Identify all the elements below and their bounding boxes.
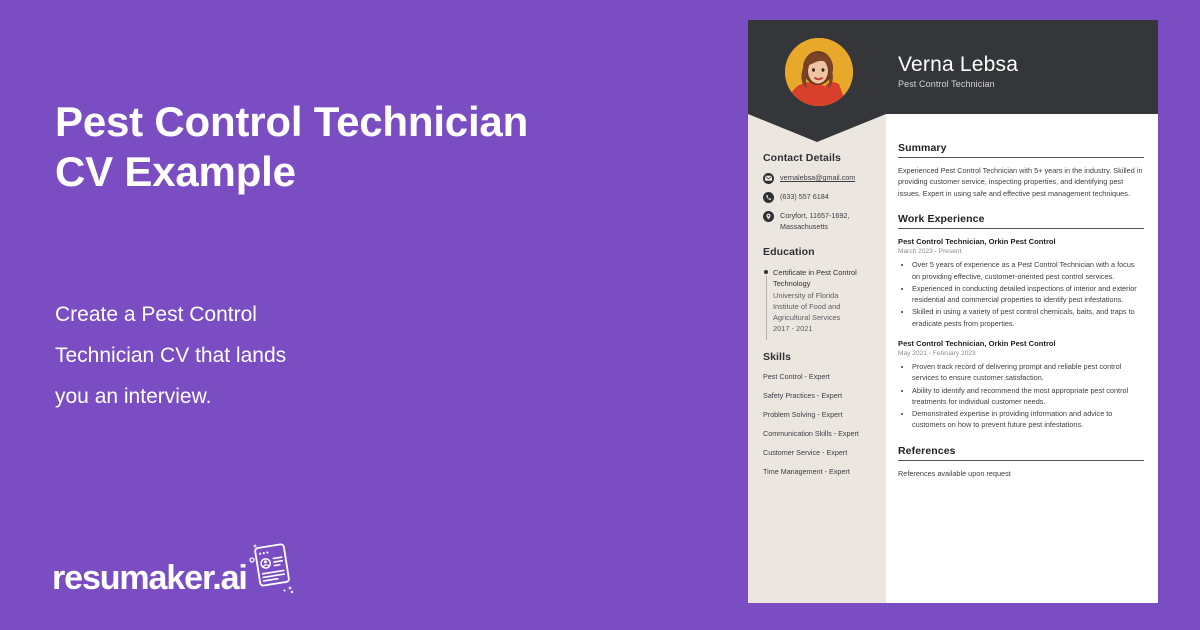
contact-address-text: Coryfort, 11657-1692, Massachusetts xyxy=(780,211,872,232)
summary-section: Summary Experienced Pest Control Technic… xyxy=(898,142,1144,199)
promo-left-panel: Pest Control Technician CV Example Creat… xyxy=(0,0,740,630)
work-experience-heading: Work Experience xyxy=(898,213,1144,229)
cv-header-chevron-notch xyxy=(748,114,886,142)
phone-icon xyxy=(763,192,774,203)
job-bullet-list: Proven track record of delivering prompt… xyxy=(898,361,1144,431)
bullet-dot-icon xyxy=(764,270,768,274)
job-bullet: Proven track record of delivering prompt… xyxy=(912,361,1144,384)
cv-sidebar: Contact Details vernalebsa@gmail.com (63… xyxy=(748,142,886,486)
job-title: Pest Control Technician, Orkin Pest Cont… xyxy=(898,338,1144,349)
skill-item: Pest Control - Expert xyxy=(763,372,872,382)
skill-item: Safety Practices - Expert xyxy=(763,391,872,401)
promo-banner: Pest Control Technician CV Example Creat… xyxy=(0,0,1200,630)
page-title: Pest Control Technician CV Example xyxy=(55,97,675,197)
job-entry: Pest Control Technician, Orkin Pest Cont… xyxy=(898,338,1144,431)
cv-preview-card[interactable]: Verna Lebsa Pest Control Technician Cont… xyxy=(748,20,1158,603)
work-experience-section: Work Experience Pest Control Technician,… xyxy=(898,213,1144,431)
contact-item-phone[interactable]: (633) 557 6184 xyxy=(763,192,872,203)
cv-main-column: Summary Experienced Pest Control Technic… xyxy=(898,142,1144,493)
skill-item: Time Management - Expert xyxy=(763,467,872,477)
contact-item-email[interactable]: vernalebsa@gmail.com xyxy=(763,173,872,184)
job-dates: March 2023 - Present xyxy=(898,247,1144,257)
job-bullet: Skilled in using a variety of pest contr… xyxy=(912,306,1144,329)
envelope-icon xyxy=(763,173,774,184)
contact-email-text[interactable]: vernalebsa@gmail.com xyxy=(780,173,855,184)
logo-wordmark: resumaker.ai xyxy=(52,561,247,595)
references-heading: References xyxy=(898,445,1144,461)
education-item: Certificate in Pest Control Technology U… xyxy=(763,267,872,335)
page-subtitle-line-3: you an interview. xyxy=(55,376,435,417)
page-subtitle: Create a Pest Control Technician CV that… xyxy=(55,294,435,417)
job-bullet: Experienced in conducting detailed inspe… xyxy=(912,283,1144,306)
education-details: Certificate in Pest Control Technology U… xyxy=(773,267,872,335)
timeline-line xyxy=(766,276,767,340)
job-title: Pest Control Technician, Orkin Pest Cont… xyxy=(898,236,1144,247)
avatar xyxy=(785,38,853,106)
resume-document-icon xyxy=(249,545,295,595)
contact-details-heading: Contact Details xyxy=(763,152,872,164)
contact-item-address: Coryfort, 11657-1692, Massachusetts xyxy=(763,211,872,232)
education-heading: Education xyxy=(763,246,872,258)
job-entry: Pest Control Technician, Orkin Pest Cont… xyxy=(898,236,1144,329)
cv-candidate-role: Pest Control Technician xyxy=(898,79,995,89)
job-bullet: Over 5 years of experience as a Pest Con… xyxy=(912,259,1144,282)
job-bullet: Ability to identify and recommend the mo… xyxy=(912,385,1144,408)
references-text: References available upon request xyxy=(898,468,1144,479)
skill-item: Problem Solving - Expert xyxy=(763,410,872,420)
education-degree: Certificate in Pest Control Technology xyxy=(773,268,857,288)
page-subtitle-line-1: Create a Pest Control xyxy=(55,294,435,335)
skills-heading: Skills xyxy=(763,351,872,363)
skills-list: Pest Control - Expert Safety Practices -… xyxy=(763,372,872,477)
contact-phone-text: (633) 557 6184 xyxy=(780,192,829,203)
location-pin-icon xyxy=(763,211,774,222)
references-section: References References available upon req… xyxy=(898,445,1144,479)
page-title-line-1: Pest Control Technician xyxy=(55,97,675,147)
summary-heading: Summary xyxy=(898,142,1144,158)
cv-candidate-name: Verna Lebsa xyxy=(898,53,1018,77)
page-title-line-2: CV Example xyxy=(55,147,675,197)
job-bullet: Demonstrated expertise in providing info… xyxy=(912,408,1144,431)
skill-item: Communication Skills - Expert xyxy=(763,429,872,439)
page-subtitle-line-2: Technician CV that lands xyxy=(55,335,435,376)
education-department: Institute of Food and Agricultural Servi… xyxy=(773,302,840,322)
education-dates: 2017 - 2021 xyxy=(773,324,812,333)
education-school: University of Florida xyxy=(773,291,838,300)
job-bullet-list: Over 5 years of experience as a Pest Con… xyxy=(898,259,1144,329)
summary-text: Experienced Pest Control Technician with… xyxy=(898,165,1144,199)
job-dates: May 2021 - February 2023 xyxy=(898,349,1144,359)
education-bullet-marker xyxy=(763,267,773,335)
skill-item: Customer Service - Expert xyxy=(763,448,872,458)
resumaker-logo[interactable]: resumaker.ai xyxy=(52,545,295,595)
